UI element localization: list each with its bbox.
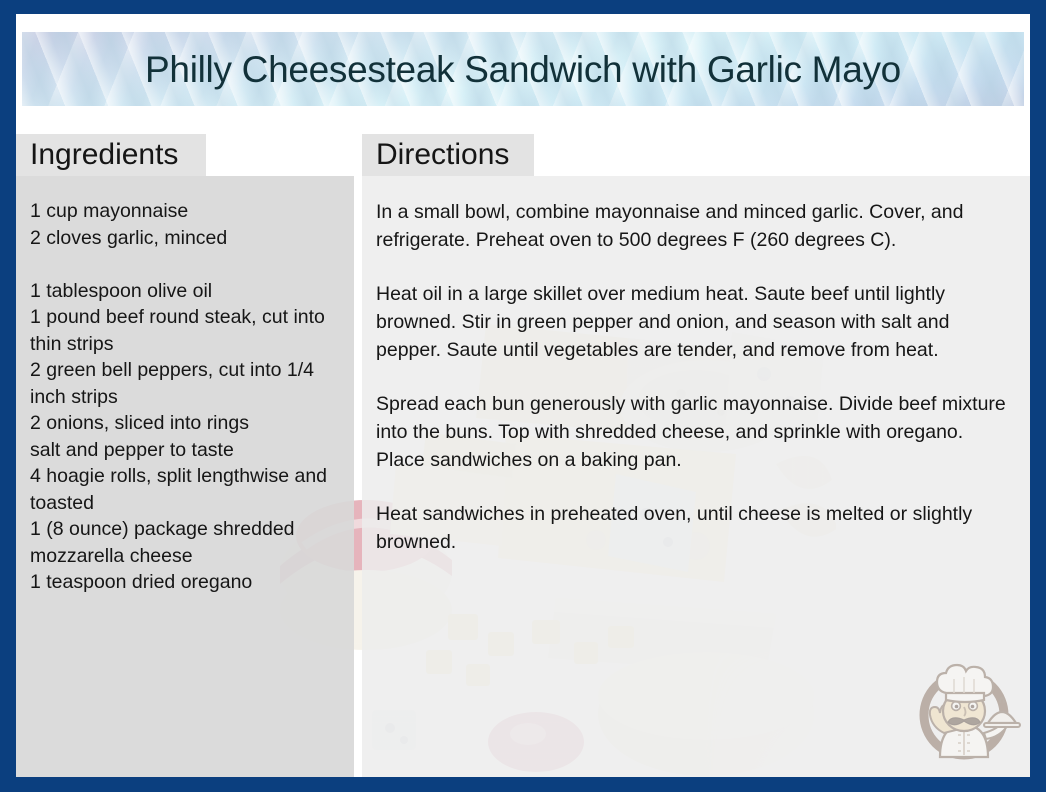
ingredient-line: 1 teaspoon dried oregano — [30, 569, 340, 596]
ingredient-line: thin strips — [30, 331, 340, 358]
ingredient-line: 1 tablespoon olive oil — [30, 278, 340, 305]
direction-paragraph: Heat oil in a large skillet over medium … — [376, 280, 1016, 364]
ingredient-line: mozzarella cheese — [30, 543, 340, 570]
ingredients-list: 1 cup mayonnaise2 cloves garlic, minced1… — [30, 198, 340, 596]
ingredients-panel: 1 cup mayonnaise2 cloves garlic, minced1… — [16, 176, 354, 777]
ingredient-line: salt and pepper to taste — [30, 437, 340, 464]
direction-paragraph: In a small bowl, combine mayonnaise and … — [376, 198, 1016, 254]
ingredient-spacer — [30, 251, 340, 278]
direction-paragraph: Spread each bun generously with garlic m… — [376, 390, 1016, 474]
title-banner: Philly Cheesesteak Sandwich with Garlic … — [22, 32, 1024, 106]
recipe-card: Philly Cheesesteak Sandwich with Garlic … — [0, 0, 1046, 792]
ingredients-heading: Ingredients — [30, 140, 178, 170]
direction-paragraph: Heat sandwiches in preheated oven, until… — [376, 500, 1016, 556]
directions-list: In a small bowl, combine mayonnaise and … — [376, 198, 1016, 556]
directions-tab: Directions — [362, 134, 534, 176]
ingredient-line: 1 (8 ounce) package shredded — [30, 516, 340, 543]
ingredient-line: 1 cup mayonnaise — [30, 198, 340, 225]
ingredient-line: inch strips — [30, 384, 340, 411]
page-title: Philly Cheesesteak Sandwich with Garlic … — [145, 51, 901, 88]
directions-panel: In a small bowl, combine mayonnaise and … — [362, 176, 1030, 777]
ingredient-line: 2 onions, sliced into rings — [30, 410, 340, 437]
ingredients-tab: Ingredients — [16, 134, 206, 176]
ingredient-line: 2 cloves garlic, minced — [30, 225, 340, 252]
ingredient-line: 1 pound beef round steak, cut into — [30, 304, 340, 331]
ingredient-line: 4 hoagie rolls, split lengthwise and — [30, 463, 340, 490]
ingredient-line: toasted — [30, 490, 340, 517]
ingredient-line: 2 green bell peppers, cut into 1/4 — [30, 357, 340, 384]
directions-heading: Directions — [376, 140, 509, 170]
card-canvas: Philly Cheesesteak Sandwich with Garlic … — [16, 14, 1030, 777]
